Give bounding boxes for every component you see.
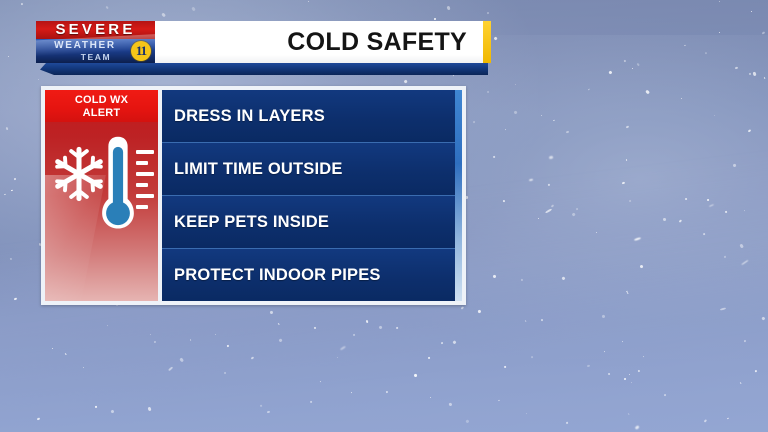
tip-row-3[interactable]: KEEP PETS INSIDE bbox=[162, 196, 462, 249]
thermometer-cold-icon bbox=[101, 132, 135, 240]
alert-badge-line1: COLD WX bbox=[45, 94, 158, 107]
thermometer-scale-ticks bbox=[136, 150, 156, 212]
tip-row-4[interactable]: PROTECT INDOOR PIPES bbox=[162, 249, 462, 301]
header-banner: SEVERE WEATHER TEAM 11 COLD SAFETY bbox=[36, 21, 491, 63]
cold-wx-alert-badge: COLD WX ALERT bbox=[45, 90, 158, 122]
logo-text-weather: WEATHER bbox=[42, 40, 128, 51]
tip-row-1[interactable]: DRESS IN LAYERS bbox=[162, 90, 462, 143]
cold-safety-card: COLD WX ALERT bbox=[41, 86, 466, 305]
logo-text-severe: SEVERE bbox=[41, 21, 150, 39]
weather-graphic-screen: SEVERE WEATHER TEAM 11 COLD SAFETY COLD … bbox=[0, 0, 768, 432]
channel-11-circle-icon: 11 bbox=[131, 41, 151, 61]
alert-badge-line2: ALERT bbox=[45, 107, 158, 120]
alert-icon-stage bbox=[45, 122, 158, 301]
snowflake-icon bbox=[51, 146, 107, 202]
tip-label-1: DRESS IN LAYERS bbox=[162, 107, 325, 126]
title-banner: COLD SAFETY bbox=[155, 21, 483, 63]
tip-label-4: PROTECT INDOOR PIPES bbox=[162, 266, 381, 285]
severe-weather-team-logo: SEVERE WEATHER TEAM 11 bbox=[36, 21, 155, 63]
tip-row-2[interactable]: LIMIT TIME OUTSIDE bbox=[162, 143, 462, 196]
tip-label-3: KEEP PETS INSIDE bbox=[162, 213, 329, 232]
cold-safety-tips-list: DRESS IN LAYERS LIMIT TIME OUTSIDE KEEP … bbox=[162, 90, 462, 301]
header-underbar bbox=[36, 63, 488, 75]
logo-text-team: TEAM bbox=[58, 52, 134, 62]
title-accent-bar bbox=[483, 21, 491, 63]
page-title: COLD SAFETY bbox=[287, 21, 467, 63]
logo-mark-number: 11 bbox=[131, 41, 151, 61]
tip-label-2: LIMIT TIME OUTSIDE bbox=[162, 160, 343, 179]
list-right-edge-accent bbox=[455, 90, 462, 301]
card-inner: COLD WX ALERT bbox=[45, 90, 462, 301]
cold-wx-alert-panel: COLD WX ALERT bbox=[45, 90, 158, 301]
